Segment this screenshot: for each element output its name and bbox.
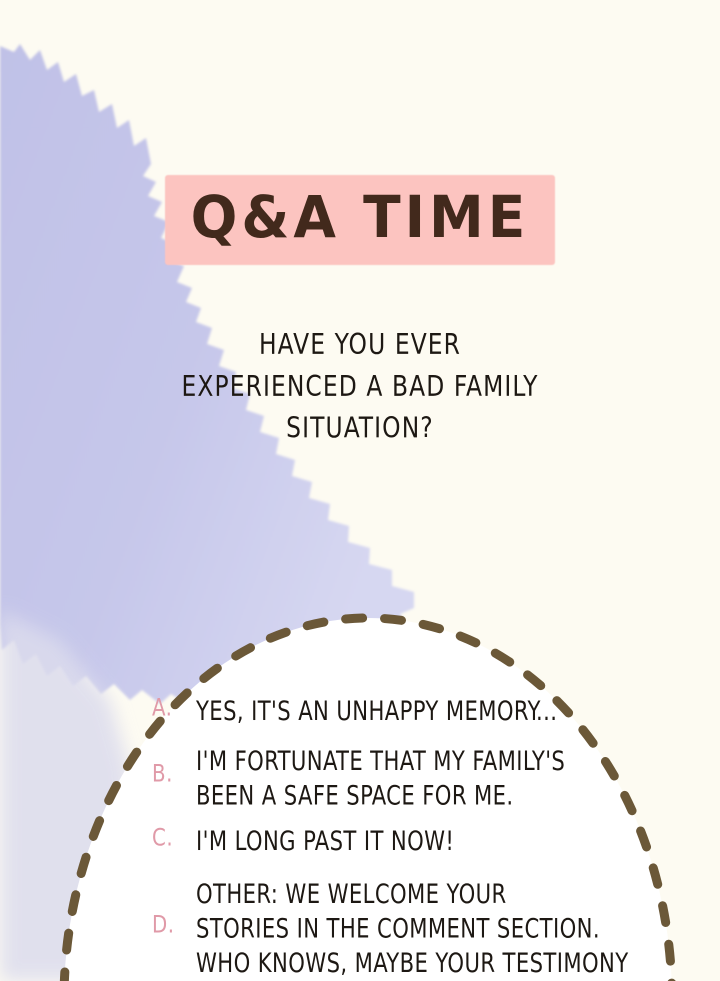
question-line-2: EXPERIENCED A BAD FAMILY bbox=[0, 366, 720, 408]
answer-option-a[interactable]: A. YES, IT'S AN UNHAPPY MEMORY... bbox=[152, 694, 652, 725]
answer-d-line-3: WHO KNOWS, MAYBE YOUR TESTIMONY bbox=[196, 946, 652, 981]
answer-option-d[interactable]: D. OTHER: WE WELCOME YOUR STORIES IN THE… bbox=[152, 877, 652, 981]
answer-letter-d: D. bbox=[152, 910, 196, 942]
answer-option-c[interactable]: C. I'M LONG PAST IT NOW! bbox=[152, 824, 652, 855]
answer-d-line-2: STORIES IN THE COMMENT SECTION. bbox=[196, 912, 652, 947]
lavender-corner-tint bbox=[0, 610, 130, 981]
question-line-1: HAVE YOU EVER bbox=[0, 324, 720, 366]
answer-text-b: I'M FORTUNATE THAT MY FAMILY'S BEEN A SA… bbox=[196, 744, 652, 813]
qa-time-title: Q&A TIME bbox=[0, 172, 720, 266]
answer-a-line-1: YES, IT'S AN UNHAPPY MEMORY... bbox=[196, 694, 652, 729]
answer-options-list: A. YES, IT'S AN UNHAPPY MEMORY... B. I'M… bbox=[152, 694, 652, 981]
answer-letter-c: C. bbox=[152, 823, 196, 855]
answer-text-d: OTHER: WE WELCOME YOUR STORIES IN THE CO… bbox=[196, 877, 652, 981]
answer-text-c: I'M LONG PAST IT NOW! bbox=[196, 824, 652, 859]
title-text: Q&A TIME bbox=[191, 176, 530, 259]
question-block: HAVE YOU EVER EXPERIENCED A BAD FAMILY S… bbox=[0, 324, 720, 449]
answer-c-line-1: I'M LONG PAST IT NOW! bbox=[196, 824, 652, 859]
answer-d-line-1: OTHER: WE WELCOME YOUR bbox=[196, 877, 652, 912]
answer-b-line-1: I'M FORTUNATE THAT MY FAMILY'S bbox=[196, 744, 652, 779]
comic-panel: Q&A TIME HAVE YOU EVER EXPERIENCED A BAD… bbox=[0, 0, 720, 981]
title-highlight-block: Q&A TIME bbox=[165, 172, 556, 266]
answer-b-line-2: BEEN A SAFE SPACE FOR ME. bbox=[196, 779, 652, 814]
answer-text-a: YES, IT'S AN UNHAPPY MEMORY... bbox=[196, 694, 652, 729]
answer-letter-a: A. bbox=[152, 693, 196, 725]
question-line-3: SITUATION? bbox=[0, 408, 720, 450]
answer-letter-b: B. bbox=[152, 759, 196, 791]
answer-option-b[interactable]: B. I'M FORTUNATE THAT MY FAMILY'S BEEN A… bbox=[152, 744, 652, 806]
